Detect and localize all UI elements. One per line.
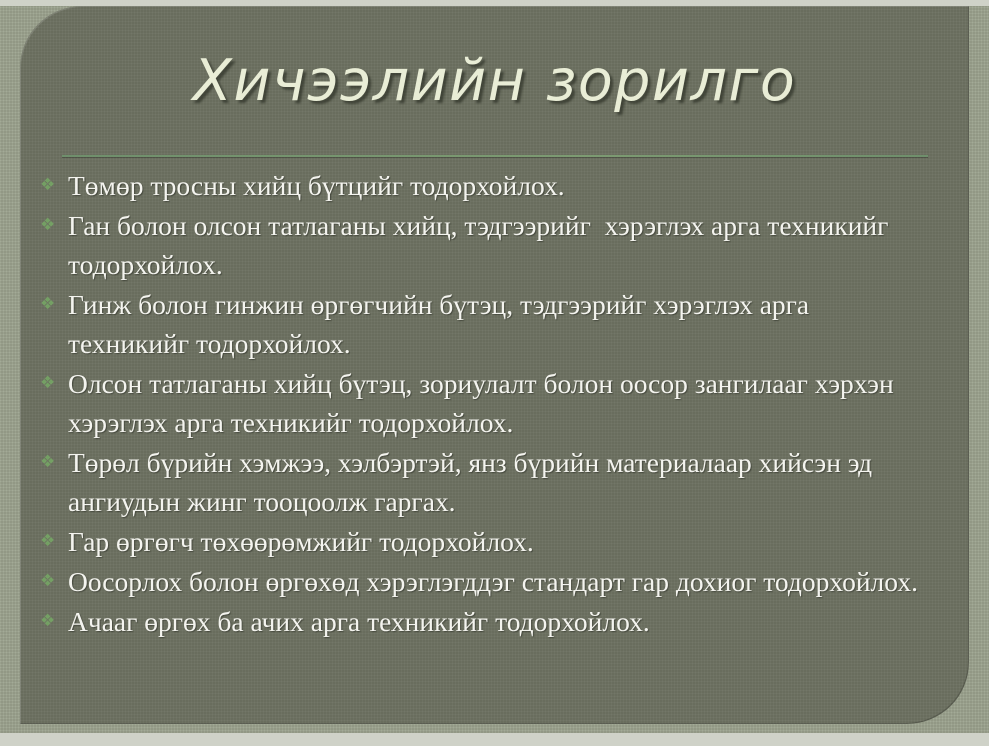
list-item: ❖Төмөр тросны хийц бүтцийг тодорхойлох. (36, 166, 936, 205)
title-divider (62, 155, 928, 157)
list-item-label: Төрөл бүрийн хэмжээ, хэлбэртэй, янз бүри… (68, 443, 936, 521)
diamond-bullet-icon: ❖ (36, 166, 68, 205)
slide-title-area: Хичээлийн зорилго (20, 26, 969, 136)
list-item-label: Гар өргөгч төхөөрөмжийг тодорхойлох. (68, 522, 936, 561)
diamond-bullet-icon: ❖ (36, 443, 68, 482)
page-title: Хичээлийн зорилго (193, 53, 796, 110)
list-item: ❖Олсон татлаганы хийц бүтэц, зориулалт б… (36, 364, 936, 442)
list-item-label: Олсон татлаганы хийц бүтэц, зориулалт бо… (68, 364, 936, 442)
diamond-bullet-icon: ❖ (36, 206, 68, 245)
diamond-bullet-icon: ❖ (36, 522, 68, 561)
list-item: ❖Төрөл бүрийн хэмжээ, хэлбэртэй, янз бүр… (36, 443, 936, 521)
list-item: ❖Ачааг өргөх ба ачих арга техникийг тодо… (36, 602, 936, 641)
list-item: ❖Оосорлох болон өргөхөд хэрэглэгддэг ста… (36, 562, 936, 601)
list-item: ❖Гар өргөгч төхөөрөмжийг тодорхойлох. (36, 522, 936, 561)
presentation-slide: Хичээлийн зорилго ❖Төмөр тросны хийц бүт… (0, 0, 989, 746)
diamond-bullet-icon: ❖ (36, 364, 68, 403)
objectives-list: ❖Төмөр тросны хийц бүтцийг тодорхойлох.❖… (36, 166, 936, 642)
list-item: ❖Ган болон олсон татлаганы хийц, тэдгээр… (36, 206, 936, 284)
list-item-label: Гинж болон гинжин өргөгчийн бүтэц, тэдгэ… (68, 285, 936, 363)
list-item-label: Ган болон олсон татлаганы хийц, тэдгээри… (68, 206, 936, 284)
diamond-bullet-icon: ❖ (36, 562, 68, 601)
diamond-bullet-icon: ❖ (36, 602, 68, 641)
slide-bottom-edge (0, 733, 989, 746)
diamond-bullet-icon: ❖ (36, 285, 68, 324)
list-item-label: Ачааг өргөх ба ачих арга техникийг тодор… (68, 602, 936, 641)
list-item: ❖Гинж болон гинжин өргөгчийн бүтэц, тэдг… (36, 285, 936, 363)
list-item-label: Төмөр тросны хийц бүтцийг тодорхойлох. (68, 166, 936, 205)
list-item-label: Оосорлох болон өргөхөд хэрэглэгддэг стан… (68, 562, 936, 601)
